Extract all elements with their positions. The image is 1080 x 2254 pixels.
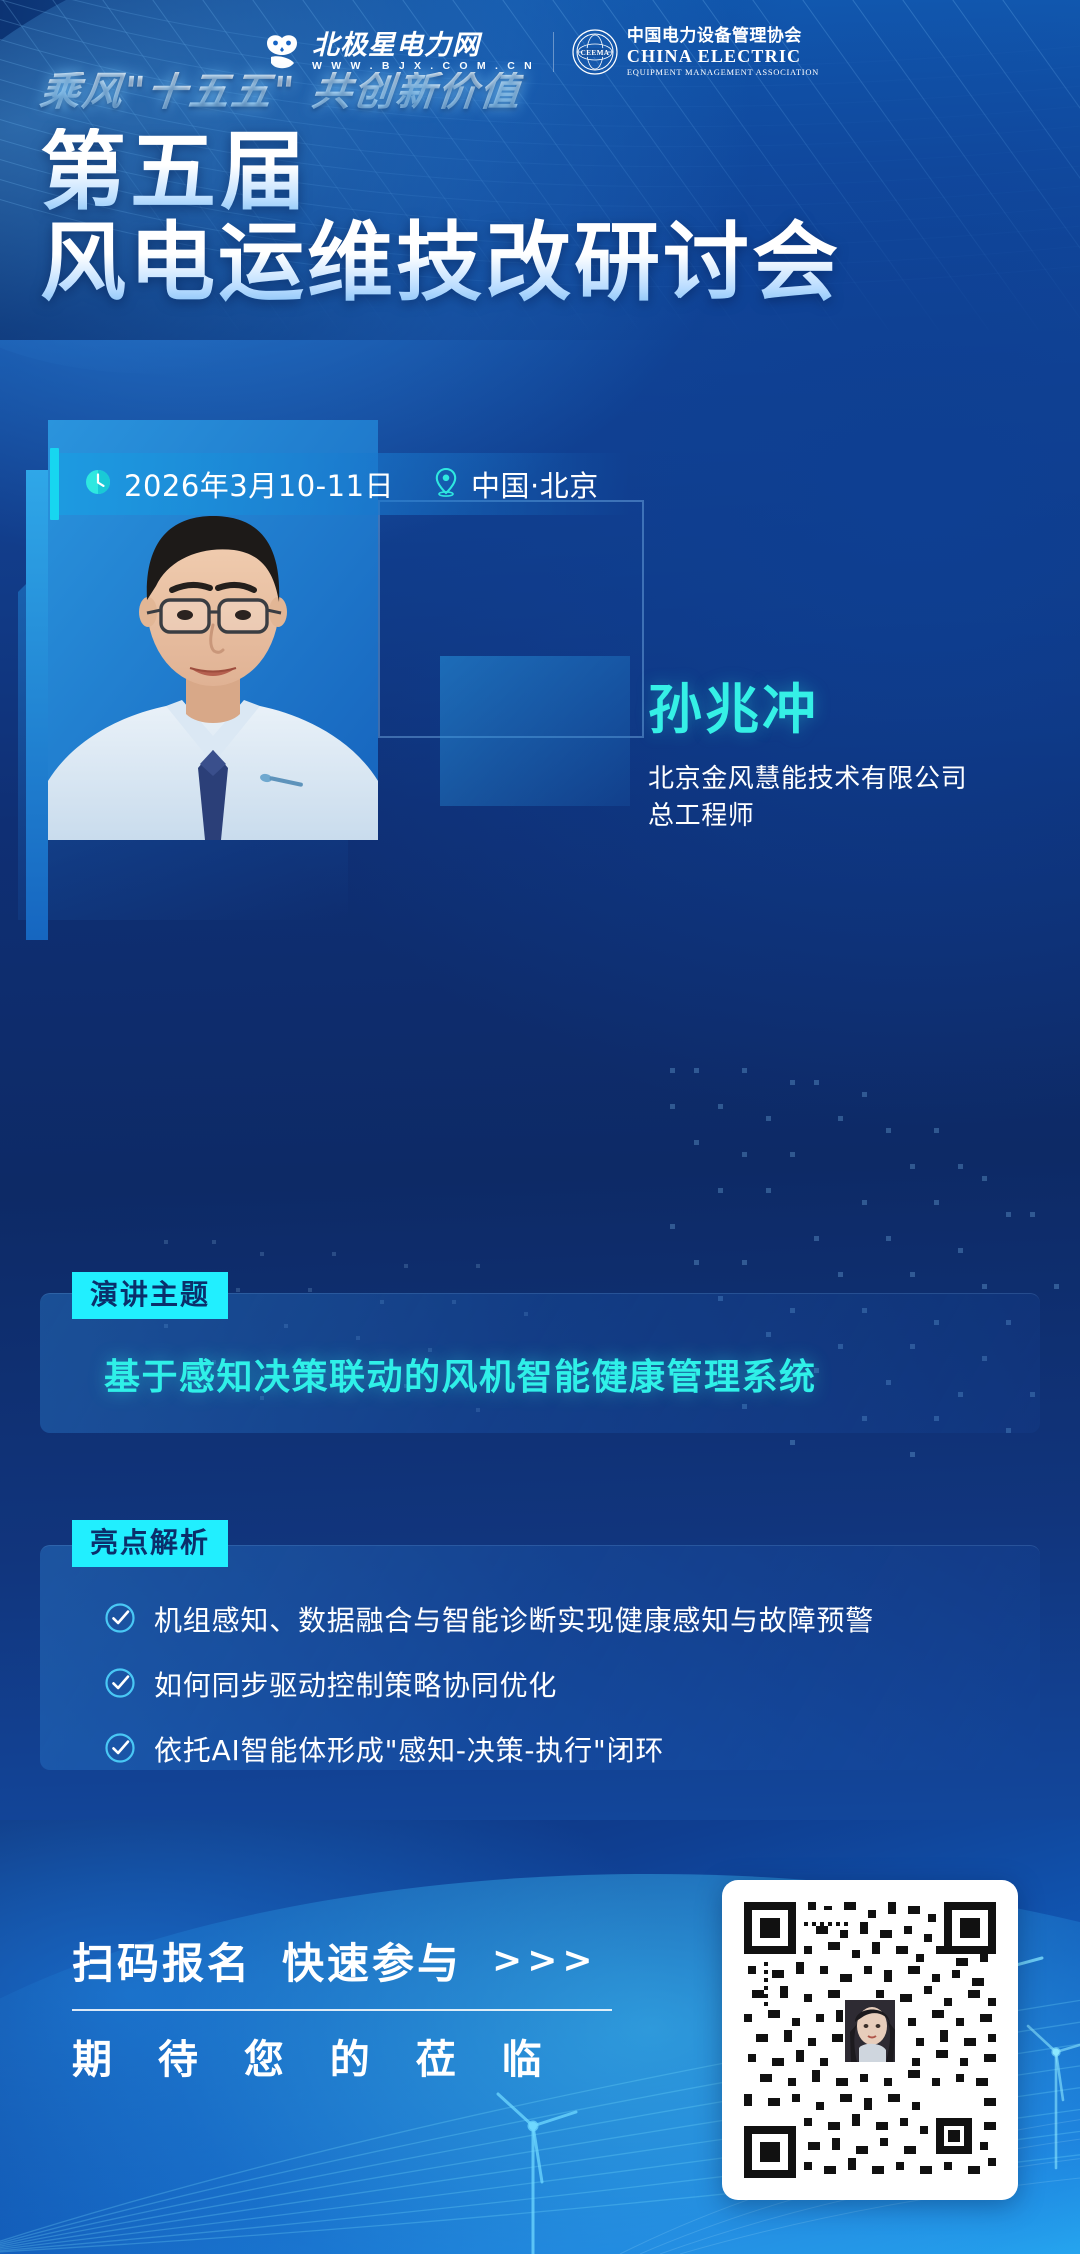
speaker-company: 北京金风慧能技术有限公司: [648, 761, 967, 798]
logo-beijixing-name: 北极星电力网: [312, 32, 535, 59]
event-poster: 北极星电力网 W W W . B J X . C O M . C N CEEMA…: [0, 0, 1080, 2254]
logo-ceema-name-en-sub: EQUIPMENT MANAGEMENT ASSOCIATION: [627, 67, 819, 77]
check-circle-icon: [104, 1602, 136, 1639]
meta-bar-body: 2026年3月10-11日 中国·北京: [59, 453, 629, 515]
cta-divider: [72, 2009, 612, 2011]
cta-scan-label: 扫码报名: [72, 1930, 252, 1991]
registration-qr-card[interactable]: [722, 1880, 1018, 2200]
polaris-bear-icon: [261, 31, 303, 73]
title-line-1: 第五届: [40, 128, 841, 217]
highlight-text: 依托AI智能体形成"感知-决策-执行"闭环: [154, 1734, 664, 1768]
logo-beijixing-text: 北极星电力网 W W W . B J X . C O M . C N: [312, 32, 535, 72]
check-circle-icon: [104, 1667, 136, 1704]
event-date-text: 2026年3月10-11日: [124, 463, 394, 505]
event-meta-bar: 2026年3月10-11日 中国·北京: [40, 448, 629, 520]
highlights-badge: 亮点解析: [72, 1520, 228, 1567]
highlight-text: 如何同步驱动控制策略协同优化: [154, 1669, 557, 1703]
logo-ceema: CEEMA 中国电力设备管理协会 CHINA ELECTRIC EQUIPMEN…: [572, 27, 819, 77]
svg-text:CEEMA: CEEMA: [581, 49, 610, 57]
logo-ceema-text: 中国电力设备管理协会 CHINA ELECTRIC EQUIPMENT MANA…: [627, 27, 819, 77]
topic-text: 基于感知决策联动的风机智能健康管理系统: [104, 1348, 817, 1400]
qr-inner[interactable]: [736, 1894, 1004, 2186]
logo-divider: [553, 32, 554, 72]
ceema-seal-icon: CEEMA: [572, 29, 618, 75]
cta-join-label: 快速参与: [282, 1930, 462, 1991]
event-slogan: 乘风"十五五" 共创新价值: [38, 72, 524, 112]
cta-line-2: 期 待 您 的 莅 临: [72, 2027, 612, 2085]
clock-icon: [83, 467, 113, 502]
list-item: 如何同步驱动控制策略协同优化: [104, 1667, 874, 1704]
logo-ceema-name-en: CHINA ELECTRIC: [627, 47, 819, 66]
logo-beijixing: 北极星电力网 W W W . B J X . C O M . C N: [261, 31, 535, 73]
event-location-text: 中国·北京: [471, 463, 599, 505]
logo-ceema-name-cn: 中国电力设备管理协会: [627, 27, 819, 46]
map-pin-icon: [432, 467, 460, 502]
speaker-deco-block: [440, 656, 630, 806]
list-item: 依托AI智能体形成"感知-决策-执行"闭环: [104, 1732, 874, 1769]
chevrons-right-icon: >>>: [492, 1940, 598, 1981]
speaker-name: 孙兆冲: [648, 680, 967, 739]
page-title: 第五届 风电运维技改研讨会: [40, 128, 841, 310]
speaker-info: 孙兆冲 北京金风慧能技术有限公司 总工程师: [648, 680, 967, 835]
event-date: 2026年3月10-11日: [83, 463, 394, 505]
speaker-role: 总工程师: [648, 798, 967, 835]
check-circle-icon: [104, 1732, 136, 1769]
speaker-deco-edge: [26, 470, 48, 940]
topic-badge: 演讲主题: [72, 1272, 228, 1319]
highlights-list: 机组感知、数据融合与智能诊断实现健康感知与故障预警 如何同步驱动控制策略协同优化…: [104, 1602, 874, 1769]
list-item: 机组感知、数据融合与智能诊断实现健康感知与故障预警: [104, 1602, 874, 1639]
cta-block: 扫码报名 快速参与 >>> 期 待 您 的 莅 临: [72, 1930, 612, 2085]
speaker-organization: 北京金风慧能技术有限公司 总工程师: [648, 761, 967, 835]
highlight-text: 机组感知、数据融合与智能诊断实现健康感知与故障预警: [154, 1604, 874, 1638]
title-line-2: 风电运维技改研讨会: [40, 217, 841, 310]
cta-line-1: 扫码报名 快速参与 >>>: [72, 1930, 612, 1991]
meta-accent-bar: [50, 448, 59, 520]
qr-center-avatar: [843, 1998, 897, 2064]
event-location: 中国·北京: [432, 463, 599, 505]
